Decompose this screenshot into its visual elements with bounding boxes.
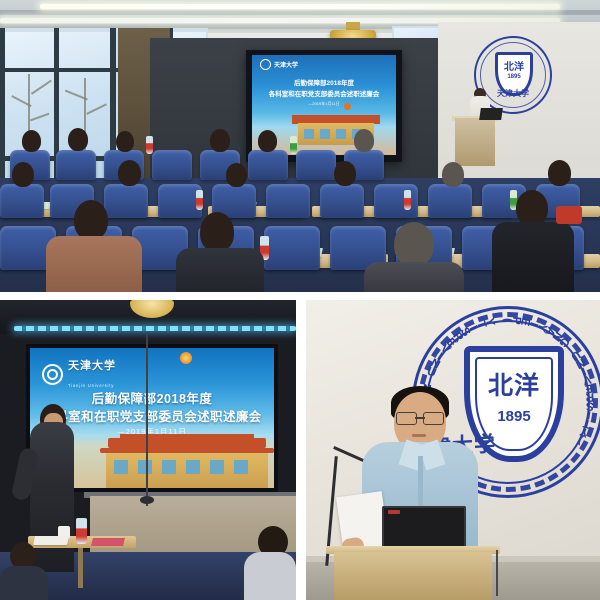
microphone-base (140, 496, 154, 504)
window-mullion (0, 28, 5, 188)
glasses-icon (396, 412, 444, 423)
attendee-head (516, 190, 548, 226)
presenter-body (30, 422, 74, 572)
led-light-strip (14, 326, 296, 331)
slide-logo: 天津大学 Tianjin University (42, 356, 116, 392)
right-wall: 北洋 1895 天津大学 (438, 22, 600, 192)
laptop-badge (388, 510, 400, 514)
slide-logo-icon (42, 364, 63, 385)
attendee-head (394, 222, 434, 266)
panel-lecture-hall-wide-shot: 天津大学 后勤保障部2018年度 各科室和在职党支部委员会述职述廉会 —2019… (0, 0, 600, 292)
table-leg (78, 548, 83, 588)
attendee-body (244, 552, 296, 600)
speaker-mouth (412, 434, 426, 437)
attendee-body (364, 262, 464, 292)
slide-title-line1: 后勤保障部2018年度 (30, 388, 274, 407)
attendee-body (492, 222, 574, 292)
slide-title-line1: 后勤保障部2018年度 (252, 77, 396, 87)
panel-presenter-beside-slide: 天津大学 Tianjin University 后勤保障部2018年度 各科室和… (0, 300, 296, 600)
papers (33, 536, 69, 545)
attendee-head (74, 200, 108, 240)
podium (455, 118, 495, 166)
photo-collage: 天津大学 后勤保障部2018年度 各科室和在职党支部委员会述职述廉会 —2019… (0, 0, 600, 600)
emblem-year: 1895 (498, 74, 530, 80)
cable (496, 550, 498, 596)
ceiling-beam (0, 10, 600, 15)
water-bottle (76, 518, 87, 544)
attendee-head (200, 212, 234, 252)
laptop (479, 108, 503, 120)
emblem-shield-chars: 北洋 (470, 366, 558, 402)
emblem-shield-chars: 北洋 (498, 58, 530, 73)
attendee-body (46, 236, 142, 292)
microphone-stand (146, 334, 148, 506)
red-papers (91, 538, 125, 546)
red-bag (556, 206, 582, 224)
podium (334, 552, 492, 600)
fluorescent-light-strip (40, 4, 560, 9)
attendee-body (0, 566, 48, 600)
emblem-year: 1895 (470, 408, 558, 425)
slide-logo-cn: 天津大学 (68, 360, 116, 372)
slide-date: —2019年1月11日 (252, 101, 396, 107)
slide-building-photo (100, 434, 274, 488)
panel-speaker-at-podium: TIANJIN UNIVERSITY (PEIYANG UNIVERSITY) … (306, 300, 600, 600)
attendee-body (176, 248, 264, 292)
slide-logo-icon (260, 59, 271, 70)
slide-title-line2: 各科室和在职党支部委员会述职述廉会 (252, 88, 396, 98)
slide-title-line2: 各科室和在职党支部委员会述职述廉会 (30, 406, 274, 425)
slide-sun-icon (180, 352, 192, 364)
slide-sun-icon (344, 103, 351, 110)
slide-logo-cn: 天津大学 (274, 60, 298, 69)
